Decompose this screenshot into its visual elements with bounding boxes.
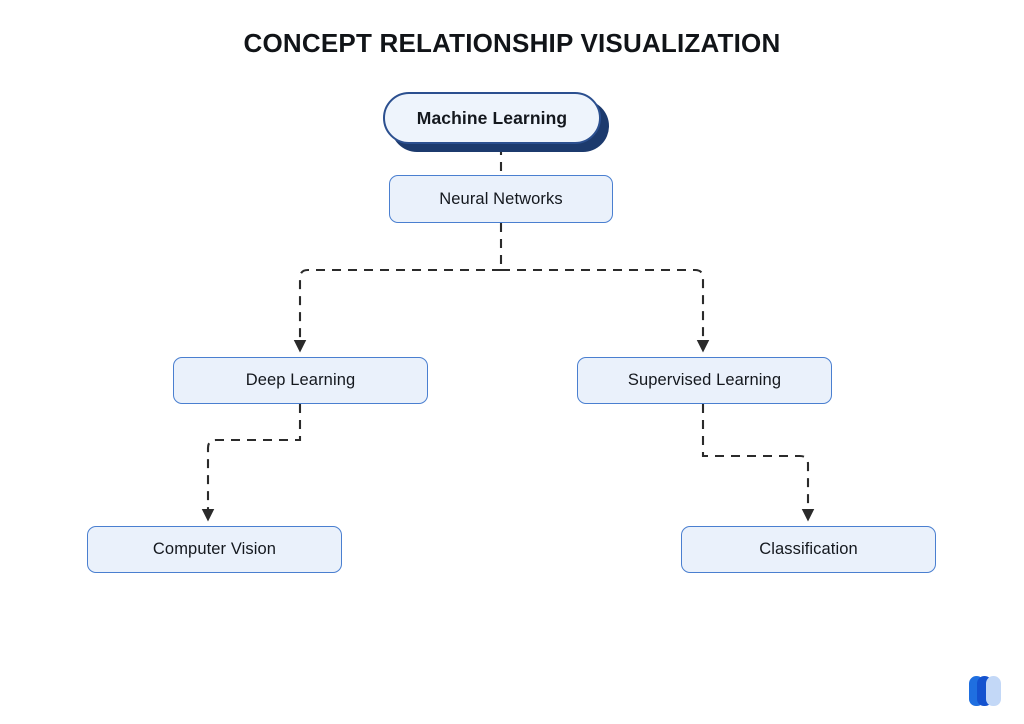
node-classification[interactable]: Classification [681,526,936,573]
diagram-canvas: CONCEPT RELATIONSHIP VISUALIZATION Machi… [0,0,1024,724]
edge-supervised-learning-classification [703,404,808,519]
node-neural-networks[interactable]: Neural Networks [389,175,613,223]
page-title: CONCEPT RELATIONSHIP VISUALIZATION [0,28,1024,59]
node-label-computer-vision: Computer Vision [153,540,276,559]
node-label-neural-networks: Neural Networks [439,190,562,209]
node-label-classification: Classification [759,540,858,559]
edge-neural-networks-deep-learning [300,270,501,350]
node-machine-learning[interactable]: Machine Learning [383,92,601,144]
node-label-machine-learning: Machine Learning [417,108,567,129]
w-logo-petal-right [986,676,1001,706]
w-logo-icon [969,676,1003,706]
node-deep-learning[interactable]: Deep Learning [173,357,428,404]
node-computer-vision[interactable]: Computer Vision [87,526,342,573]
node-label-deep-learning: Deep Learning [246,371,356,390]
node-supervised-learning[interactable]: Supervised Learning [577,357,832,404]
node-label-supervised-learning: Supervised Learning [628,371,781,390]
edge-deep-learning-computer-vision [208,404,300,519]
edge-neural-networks-supervised-learning [501,270,703,350]
